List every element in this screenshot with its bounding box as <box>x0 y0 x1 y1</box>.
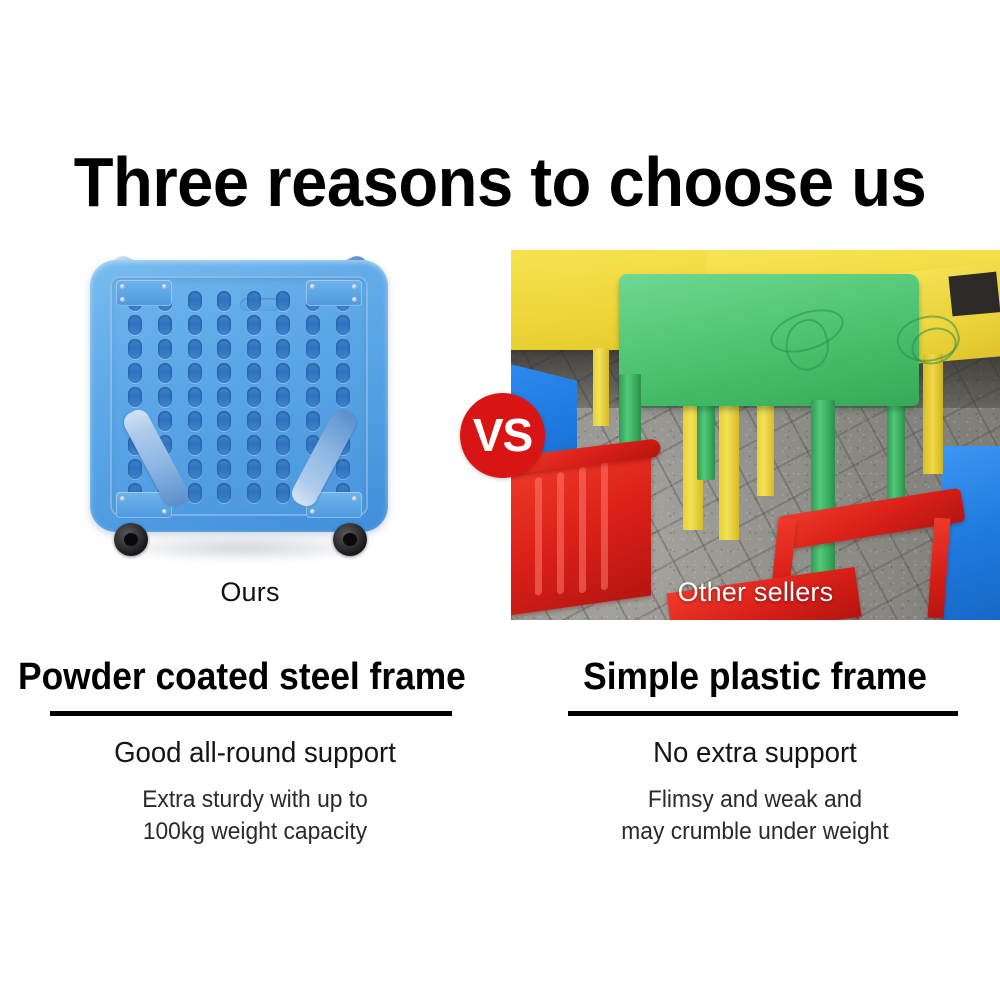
product-shadow <box>118 535 368 561</box>
yellow-chair-leg <box>923 354 943 474</box>
right-text-column: Simple plastic frame No extra support Fl… <box>510 655 1000 848</box>
right-divider <box>568 711 958 716</box>
right-body: Flimsy and weak and may crumble under we… <box>522 784 988 848</box>
ours-product-image <box>88 250 390 565</box>
tabletop-underside-pan <box>110 276 368 516</box>
left-divider <box>50 711 452 716</box>
right-body-line-2: may crumble under weight <box>522 816 988 848</box>
left-body-line-2: 100kg weight capacity <box>22 816 488 848</box>
table-foot-front-right <box>333 523 367 556</box>
page-title: Three reasons to choose us <box>35 143 965 221</box>
green-table-top <box>619 274 919 406</box>
left-heading: Powder coated steel frame <box>18 655 466 699</box>
tabletop-shell <box>90 260 388 532</box>
right-body-line-1: Flimsy and weak and <box>522 784 988 816</box>
other-sellers-image-caption: Other sellers <box>511 577 1000 608</box>
frame-bracket-top-left <box>116 280 172 306</box>
left-body: Extra sturdy with up to 100kg weight cap… <box>22 784 488 848</box>
vs-badge-label: VS <box>473 412 532 458</box>
vs-badge: VS <box>460 393 545 478</box>
ours-panel: Ours <box>0 245 500 625</box>
left-text-column: Powder coated steel frame Good all-round… <box>10 655 500 848</box>
right-subheading: No extra support <box>522 736 988 770</box>
ours-image-caption: Ours <box>0 577 500 608</box>
other-sellers-photo: Other sellers <box>511 250 1000 620</box>
yellow-table-leg-4 <box>719 400 739 540</box>
left-subheading: Good all-round support <box>22 736 488 770</box>
frame-bracket-top-right <box>306 280 362 306</box>
right-heading: Simple plastic frame <box>527 655 983 699</box>
left-body-line-1: Extra sturdy with up to <box>22 784 488 816</box>
table-foot-front-left <box>114 523 148 556</box>
yellow-table-leg-1 <box>593 348 609 426</box>
